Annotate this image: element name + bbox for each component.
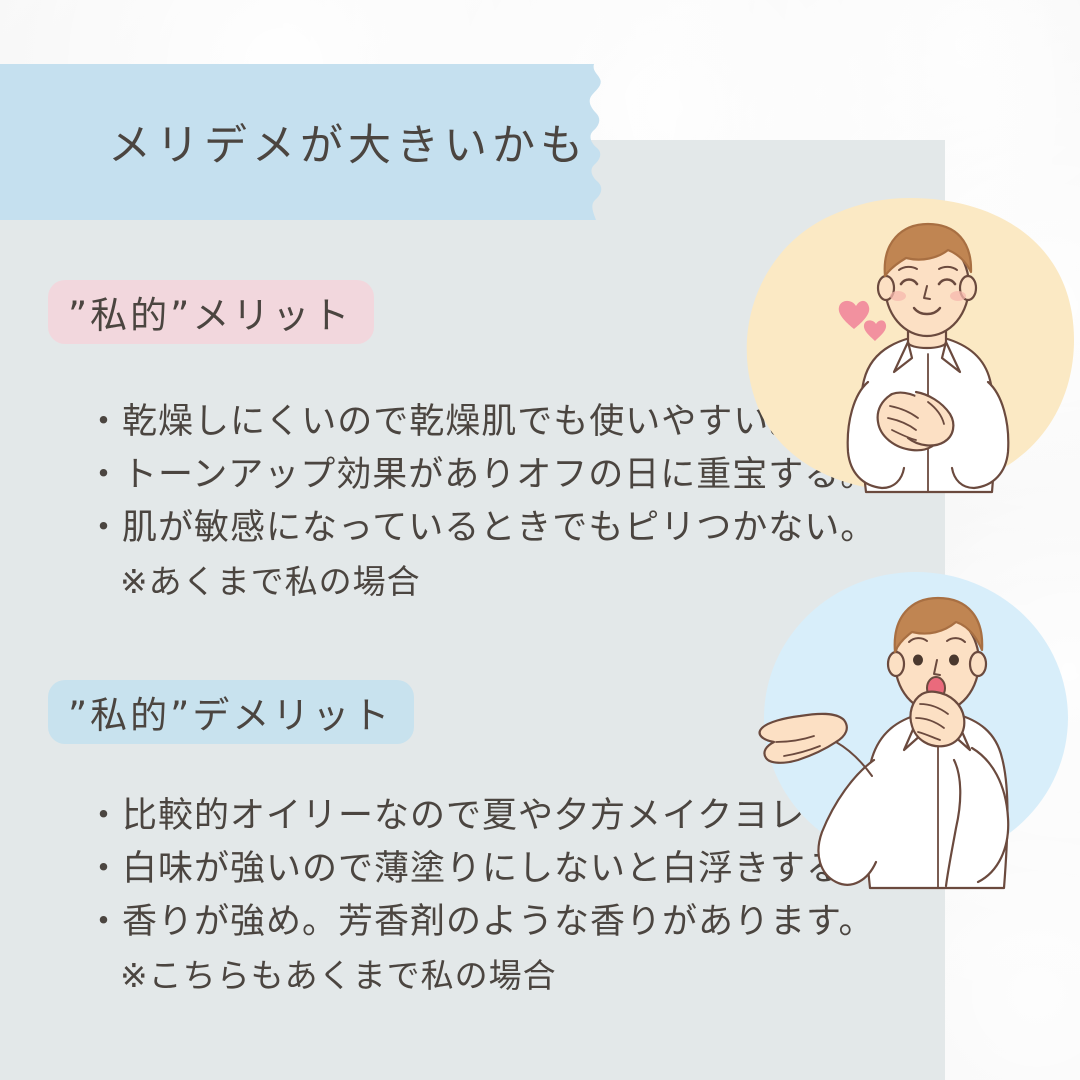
- happy-man-hands-on-chest-illustration: [742, 196, 1080, 496]
- section-label-merit-text: ”私的”メリット: [68, 285, 352, 339]
- section-label-demerit: ”私的”デメリット: [48, 680, 414, 744]
- poster-canvas: メリデメが大きいかも ”私的”メリット ・乾燥しにくいので乾燥肌でも使いやすい。…: [0, 0, 1080, 1080]
- demerit-note: ※こちらもあくまで私の場合: [86, 949, 913, 1002]
- section-label-demerit-text: ”私的”デメリット: [68, 685, 392, 739]
- title-tape-banner: メリデメが大きいかも: [0, 64, 616, 220]
- section-label-merit: ”私的”メリット: [48, 280, 374, 344]
- surprised-man-pointing-left-illustration: [740, 570, 1080, 890]
- list-item: ・香りが強め。芳香剤のような香りがあります。: [86, 896, 913, 949]
- list-item: ・肌が敏感になっているときでもピリつかない。: [86, 502, 876, 555]
- page-title: メリデメが大きいかも: [108, 64, 588, 220]
